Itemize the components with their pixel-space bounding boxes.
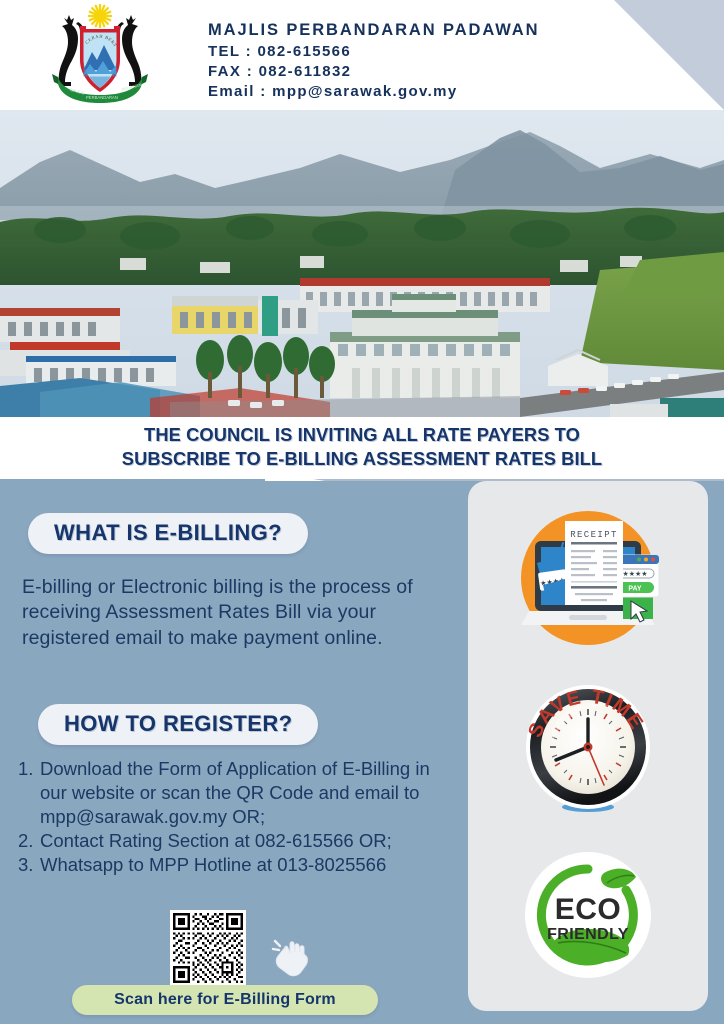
pin-stars-label: ★★★★ <box>622 570 647 578</box>
save-time-clock-illustration: SAVE TIME <box>468 671 708 831</box>
step-text: Whatsapp to MPP Hotline at 013-8025566 <box>40 853 446 877</box>
pay-button-label: PAY <box>628 586 642 593</box>
eco-friendly-badge-illustration: ECO FRIENDLY <box>468 843 708 1003</box>
org-fax: FAX : 082-611832 <box>208 62 539 82</box>
step-number: 3. <box>18 853 40 877</box>
pointing-hand-cursor-icon <box>268 932 312 978</box>
aerial-town-photo <box>0 110 724 417</box>
how-to-register-heading-pill: HOW TO REGISTER? <box>38 704 318 745</box>
how-to-register-title: HOW TO REGISTER? <box>64 711 292 736</box>
step-number: 1. <box>18 757 40 781</box>
org-name: MAJLIS PERBANDARAN PADAWAN <box>208 20 539 42</box>
svg-text:PERBANDARAN: PERBANDARAN <box>86 95 118 100</box>
mpp-coat-of-arms-logo: CERAH BERSIH MAKMUR MAJLIS PERBANDARAN P… <box>34 2 166 106</box>
header: CERAH BERSIH MAKMUR MAJLIS PERBANDARAN P… <box>0 0 724 110</box>
header-corner-decoration <box>614 0 724 110</box>
how-to-register-steps: 1. Download the Form of Application of E… <box>18 757 446 877</box>
eco-label: ECO <box>555 893 622 926</box>
scan-here-button-label: Scan here for E-Billing Form <box>114 991 336 1009</box>
list-item: 3. Whatsapp to MPP Hotline at 013-802556… <box>18 853 446 877</box>
headline-line-2: SUBSCRIBE TO E-BILLING ASSESSMENT RATES … <box>122 447 602 470</box>
online-payment-receipt-illustration: ★★★★ PAY ★★★★ REC <box>468 493 708 663</box>
illustration-card: ★★★★ PAY ★★★★ REC <box>468 481 708 1011</box>
qr-code[interactable] <box>170 910 246 986</box>
poster-root: CERAH BERSIH MAKMUR MAJLIS PERBANDARAN P… <box>0 0 724 1024</box>
org-tel: TEL : 082-615566 <box>208 42 539 62</box>
headline-band: THE COUNCIL IS INVITING ALL RATE PAYERS … <box>0 417 724 479</box>
headline-line-1: THE COUNCIL IS INVITING ALL RATE PAYERS … <box>144 423 580 446</box>
list-item: 1. Download the Form of Application of E… <box>18 757 446 829</box>
org-contact-block: MAJLIS PERBANDARAN PADAWAN TEL : 082-615… <box>208 20 539 102</box>
step-text: Download the Form of Application of E-Bi… <box>40 757 446 829</box>
step-number: 2. <box>18 829 40 853</box>
org-email: Email : mpp@sarawak.gov.my <box>208 82 539 102</box>
step-text: Contact Rating Section at 082-615566 OR; <box>40 829 446 853</box>
friendly-label: FRIENDLY <box>547 926 629 943</box>
list-item: 2. Contact Rating Section at 082-615566 … <box>18 829 446 853</box>
what-is-ebilling-heading-pill: WHAT IS E-BILLING? <box>28 513 308 554</box>
what-is-ebilling-title: WHAT IS E-BILLING? <box>54 520 282 545</box>
scan-here-button[interactable]: Scan here for E-Billing Form <box>72 985 378 1015</box>
receipt-title: RECEIPT <box>570 530 618 540</box>
what-is-ebilling-body: E-billing or Electronic billing is the p… <box>22 575 442 651</box>
